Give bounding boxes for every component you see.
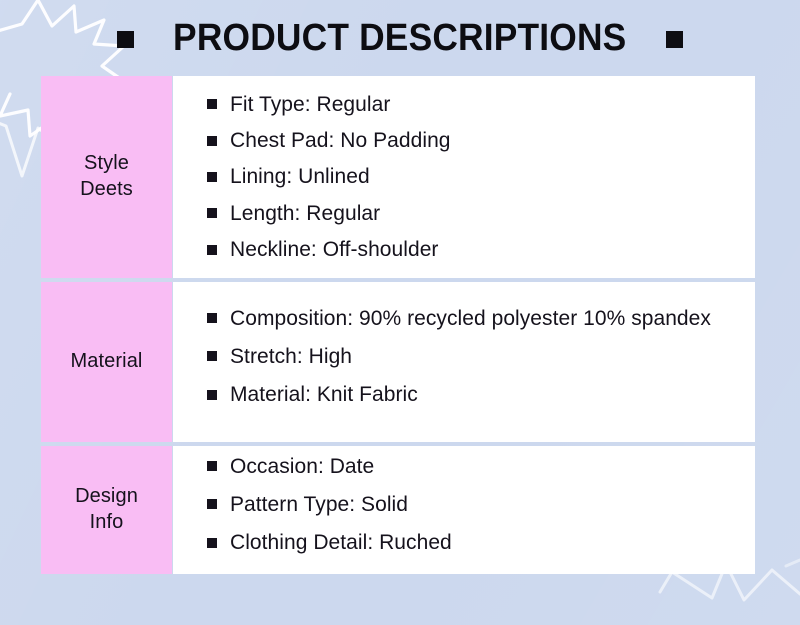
- list-item-label: Pattern Type: Solid: [230, 491, 739, 518]
- list-item: Material: Knit Fabric: [207, 381, 739, 408]
- square-bullet-icon: [207, 351, 217, 361]
- row-content-design-info: Occasion: Date Pattern Type: Solid Cloth…: [173, 446, 755, 574]
- table-row: Design Info Occasion: Date Pattern Type:…: [41, 446, 755, 574]
- list-item-label: Material: Knit Fabric: [230, 381, 739, 408]
- list-item: Occasion: Date: [207, 453, 739, 480]
- title-left-square-icon: [117, 31, 134, 48]
- square-bullet-icon: [207, 313, 217, 323]
- list-item: Pattern Type: Solid: [207, 491, 739, 518]
- slide-canvas: PRODUCT DESCRIPTIONS Style Deets Fit Typ…: [0, 0, 800, 625]
- list-item-label: Clothing Detail: Ruched: [230, 529, 739, 556]
- page-title-row: PRODUCT DESCRIPTIONS: [0, 14, 800, 62]
- square-bullet-icon: [207, 172, 217, 182]
- list-item-label: Neckline: Off-shoulder: [230, 236, 739, 263]
- row-label-line2: Info: [90, 511, 124, 533]
- list-item-label: Composition: 90% recycled polyester 10% …: [230, 305, 735, 332]
- row-label-line2: Deets: [80, 178, 133, 200]
- list-item-label: Length: Regular: [230, 200, 739, 227]
- list-item-label: Lining: Unlined: [230, 163, 739, 190]
- list-item: Lining: Unlined: [207, 163, 739, 190]
- square-bullet-icon: [207, 208, 217, 218]
- title-right-square-icon: [666, 31, 683, 48]
- list-item-label: Stretch: High: [230, 343, 739, 370]
- list-item: Clothing Detail: Ruched: [207, 529, 739, 556]
- list-item-label: Fit Type: Regular: [230, 91, 739, 118]
- row-label-line1: Style: [84, 152, 129, 174]
- bullet-list: Fit Type: Regular Chest Pad: No Padding …: [173, 91, 739, 263]
- row-label-line1: Design: [75, 485, 138, 507]
- square-bullet-icon: [207, 538, 217, 548]
- row-content-style-deets: Fit Type: Regular Chest Pad: No Padding …: [173, 76, 755, 278]
- square-bullet-icon: [207, 499, 217, 509]
- row-label-design-info: Design Info: [41, 446, 172, 574]
- row-content-material: Composition: 90% recycled polyester 10% …: [173, 282, 755, 442]
- zigzag-outline-bottom-right-tail-icon: [786, 560, 800, 566]
- list-item: Fit Type: Regular: [207, 91, 739, 118]
- bullet-list: Occasion: Date Pattern Type: Solid Cloth…: [173, 453, 739, 568]
- list-item: Length: Regular: [207, 200, 739, 227]
- table-row: Style Deets Fit Type: Regular Chest Pad:…: [41, 76, 755, 278]
- square-bullet-icon: [207, 136, 217, 146]
- zigzag-outline-left-icon: [0, 118, 46, 176]
- table-row: Material Composition: 90% recycled polye…: [41, 282, 755, 442]
- square-bullet-icon: [207, 99, 217, 109]
- list-item: Neckline: Off-shoulder: [207, 236, 739, 263]
- square-bullet-icon: [207, 390, 217, 400]
- product-description-table: Style Deets Fit Type: Regular Chest Pad:…: [41, 76, 755, 578]
- square-bullet-icon: [207, 461, 217, 471]
- bullet-list: Composition: 90% recycled polyester 10% …: [173, 305, 739, 420]
- list-item-label: Chest Pad: No Padding: [230, 127, 739, 154]
- list-item-label: Occasion: Date: [230, 453, 739, 480]
- list-item: Composition: 90% recycled polyester 10% …: [207, 305, 739, 332]
- row-label-style-deets: Style Deets: [41, 76, 172, 278]
- list-item: Stretch: High: [207, 343, 739, 370]
- row-label-line1: Material: [71, 349, 143, 375]
- square-bullet-icon: [207, 245, 217, 255]
- list-item: Chest Pad: No Padding: [207, 127, 739, 154]
- page-title: PRODUCT DESCRIPTIONS: [173, 17, 626, 60]
- row-label-material: Material: [41, 282, 172, 442]
